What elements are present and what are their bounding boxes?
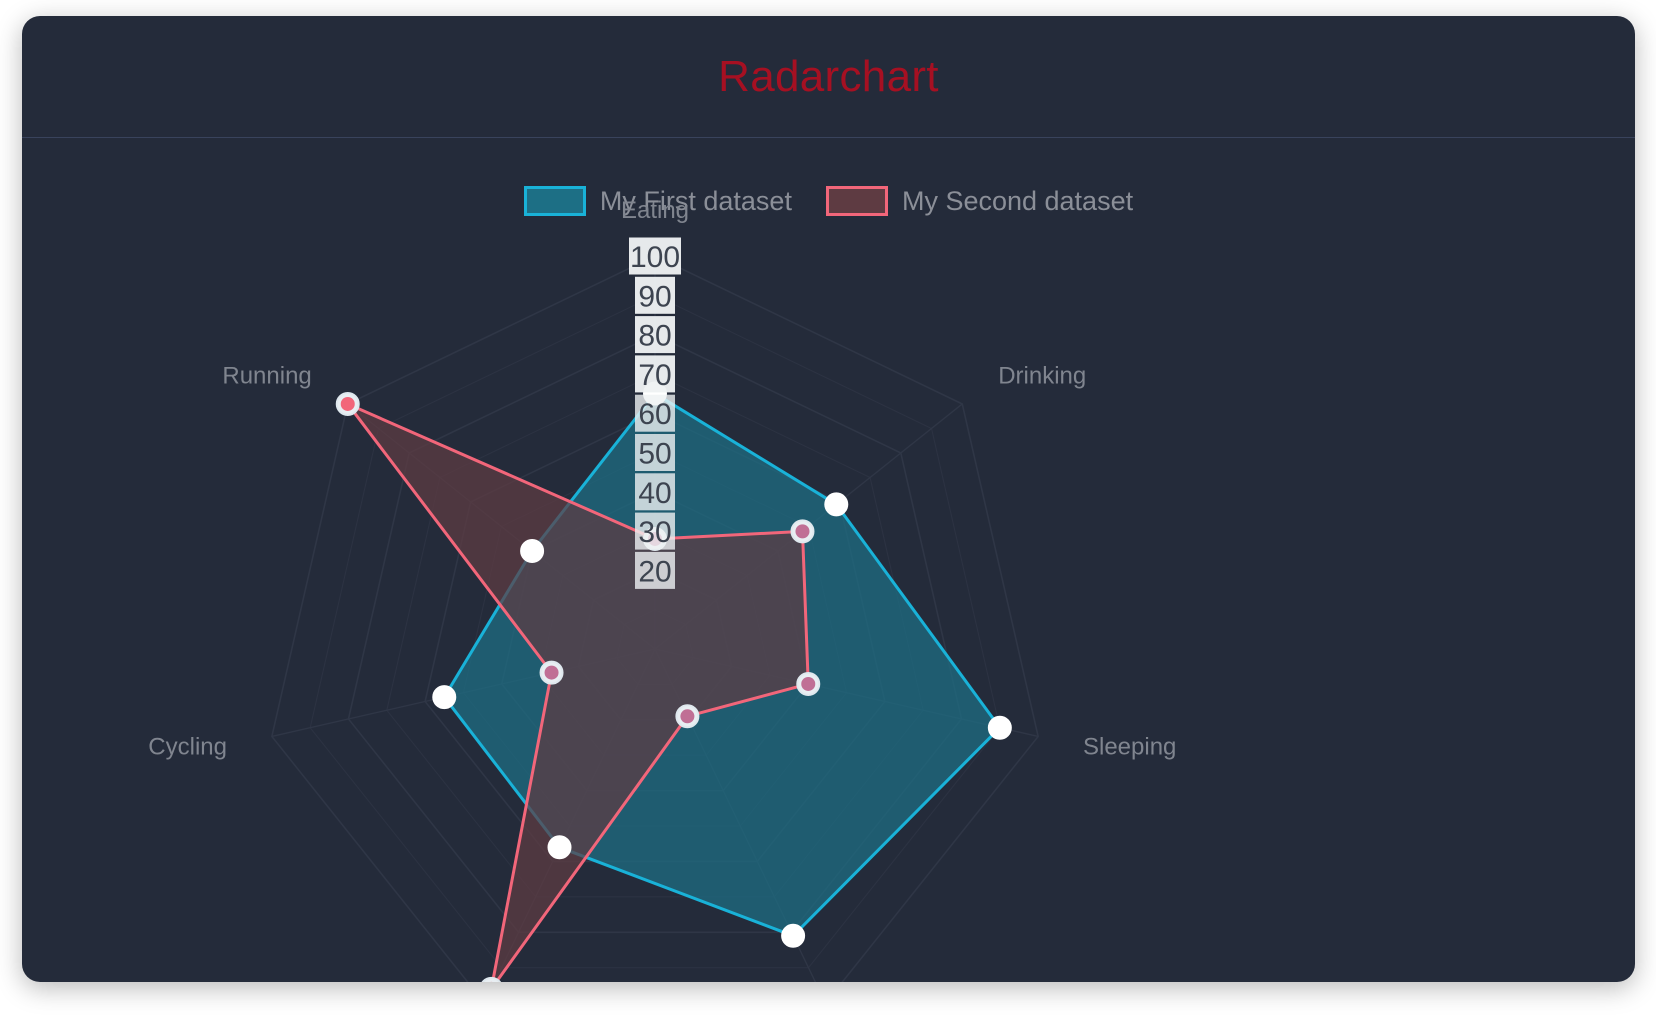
radar-data-point-inner: [680, 709, 694, 723]
radar-axis-label: Drinking: [998, 362, 1086, 389]
radar-axis-label: Sleeping: [1083, 734, 1176, 761]
radar-data-point-inner: [341, 397, 355, 411]
radar-data-point[interactable]: [433, 686, 455, 708]
radar-data-point[interactable]: [989, 717, 1011, 739]
radar-tick-label: 90: [638, 280, 671, 313]
radar-tick-label: 70: [638, 359, 671, 392]
radar-plot-area: EatingDrinkingSleepingDesigningCodingCyc…: [22, 138, 1635, 982]
radar-data-point[interactable]: [782, 925, 804, 947]
radar-data-point-inner: [795, 524, 809, 538]
radar-tick-label: 20: [638, 555, 671, 588]
radar-tick-label: 30: [638, 516, 671, 549]
radar-tick-label: 80: [638, 320, 671, 353]
radar-axis-label: Running: [222, 362, 311, 389]
radar-chart-svg[interactable]: EatingDrinkingSleepingDesigningCodingCyc…: [22, 138, 1635, 982]
radar-axis-label: Eating: [621, 197, 689, 224]
chart-body: My First dataset My Second dataset Eatin…: [22, 138, 1635, 982]
card-header: Radarchart: [22, 16, 1635, 138]
page-root: Radarchart My First dataset My Second da…: [0, 0, 1656, 1020]
radar-data-point[interactable]: [521, 540, 543, 562]
page-title: Radarchart: [718, 55, 939, 99]
radar-data-point[interactable]: [825, 493, 847, 515]
radar-tick-label: 60: [638, 398, 671, 431]
radar-tick-labels: 2030405060708090100: [629, 238, 681, 589]
radar-tick-label: 40: [638, 477, 671, 510]
radar-data-point-inner: [801, 677, 815, 691]
radar-chart-card: Radarchart My First dataset My Second da…: [22, 16, 1635, 982]
radar-axis-label: Cycling: [148, 734, 227, 761]
radar-data-point-inner: [545, 666, 559, 680]
radar-tick-label: 50: [638, 438, 671, 471]
radar-tick-label: 100: [630, 241, 680, 274]
radar-data-point[interactable]: [549, 836, 571, 858]
